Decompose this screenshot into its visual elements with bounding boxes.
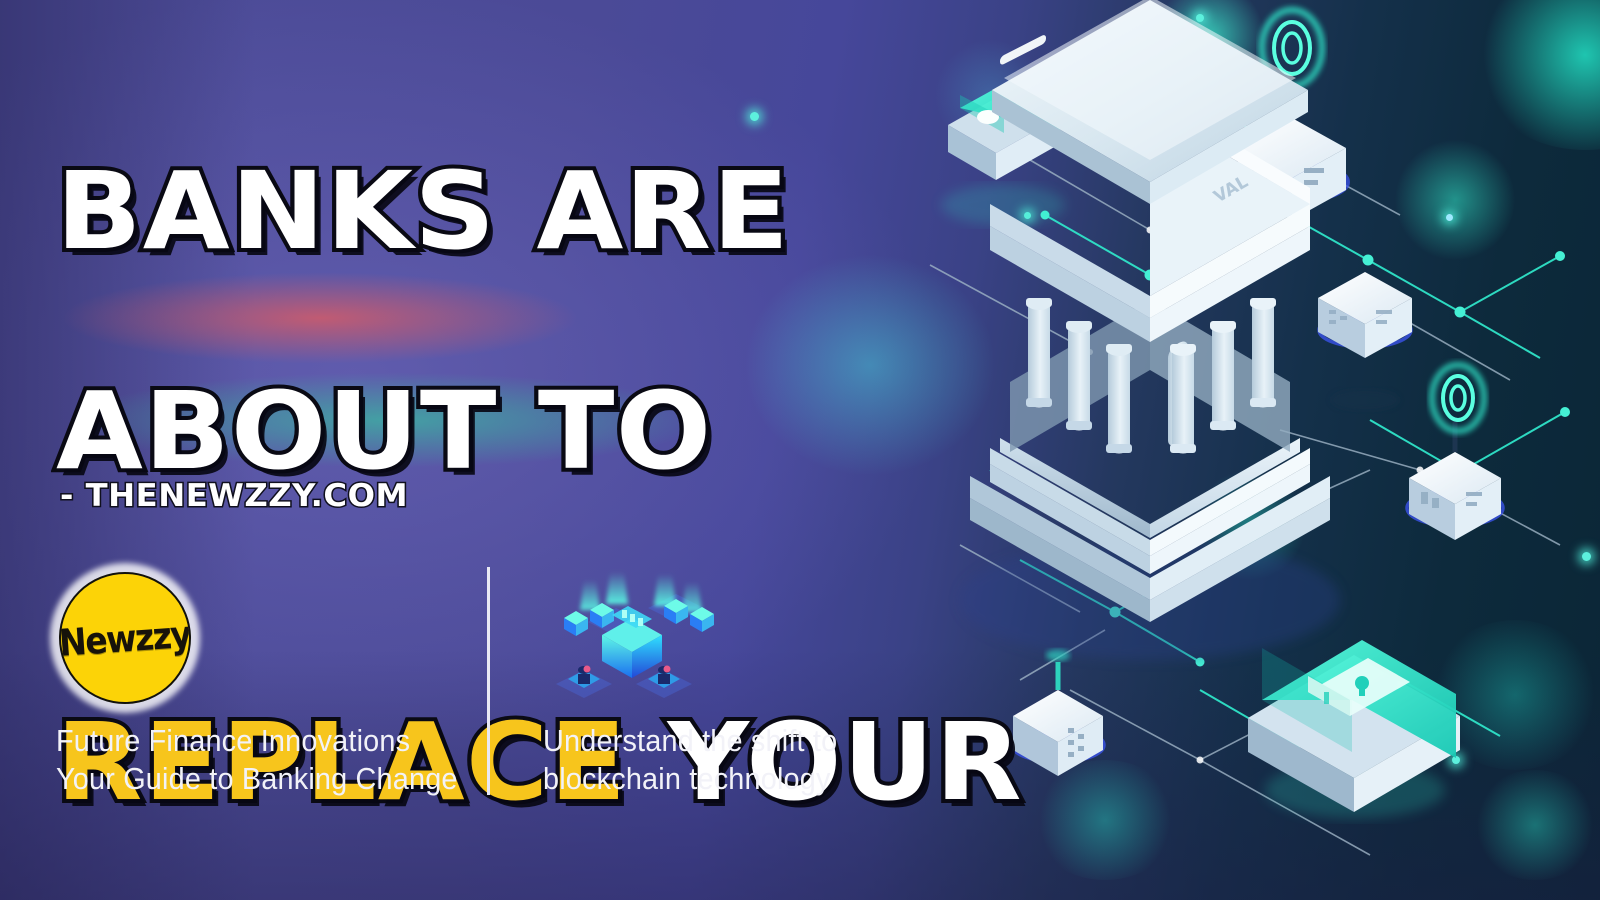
logo-disc: Newzzy bbox=[59, 572, 191, 704]
logo-wordmark: Newzzy bbox=[59, 612, 191, 665]
promo-banner: VAL BANKS ARE ABOUT TO REPLACE YOUR PASS… bbox=[0, 0, 1600, 900]
caption-left: Future Finance Innovations Your Guide to… bbox=[56, 722, 493, 798]
biometric-cube-node-mid bbox=[1407, 365, 1503, 540]
floating-cube-node bbox=[1318, 272, 1412, 411]
laptop-lock-screen-node bbox=[1248, 640, 1460, 818]
caption-right: Understand the shift to blockchain techn… bbox=[543, 722, 915, 798]
source-byline: - THENEWZZY.COM bbox=[60, 478, 408, 514]
newzzy-logo[interactable]: Newzzy bbox=[55, 568, 195, 708]
headline-line-2: ABOUT TO bbox=[56, 377, 1130, 487]
blockchain-blocks-icon bbox=[540, 566, 725, 701]
headline-line-1: BANKS ARE bbox=[56, 156, 1130, 266]
